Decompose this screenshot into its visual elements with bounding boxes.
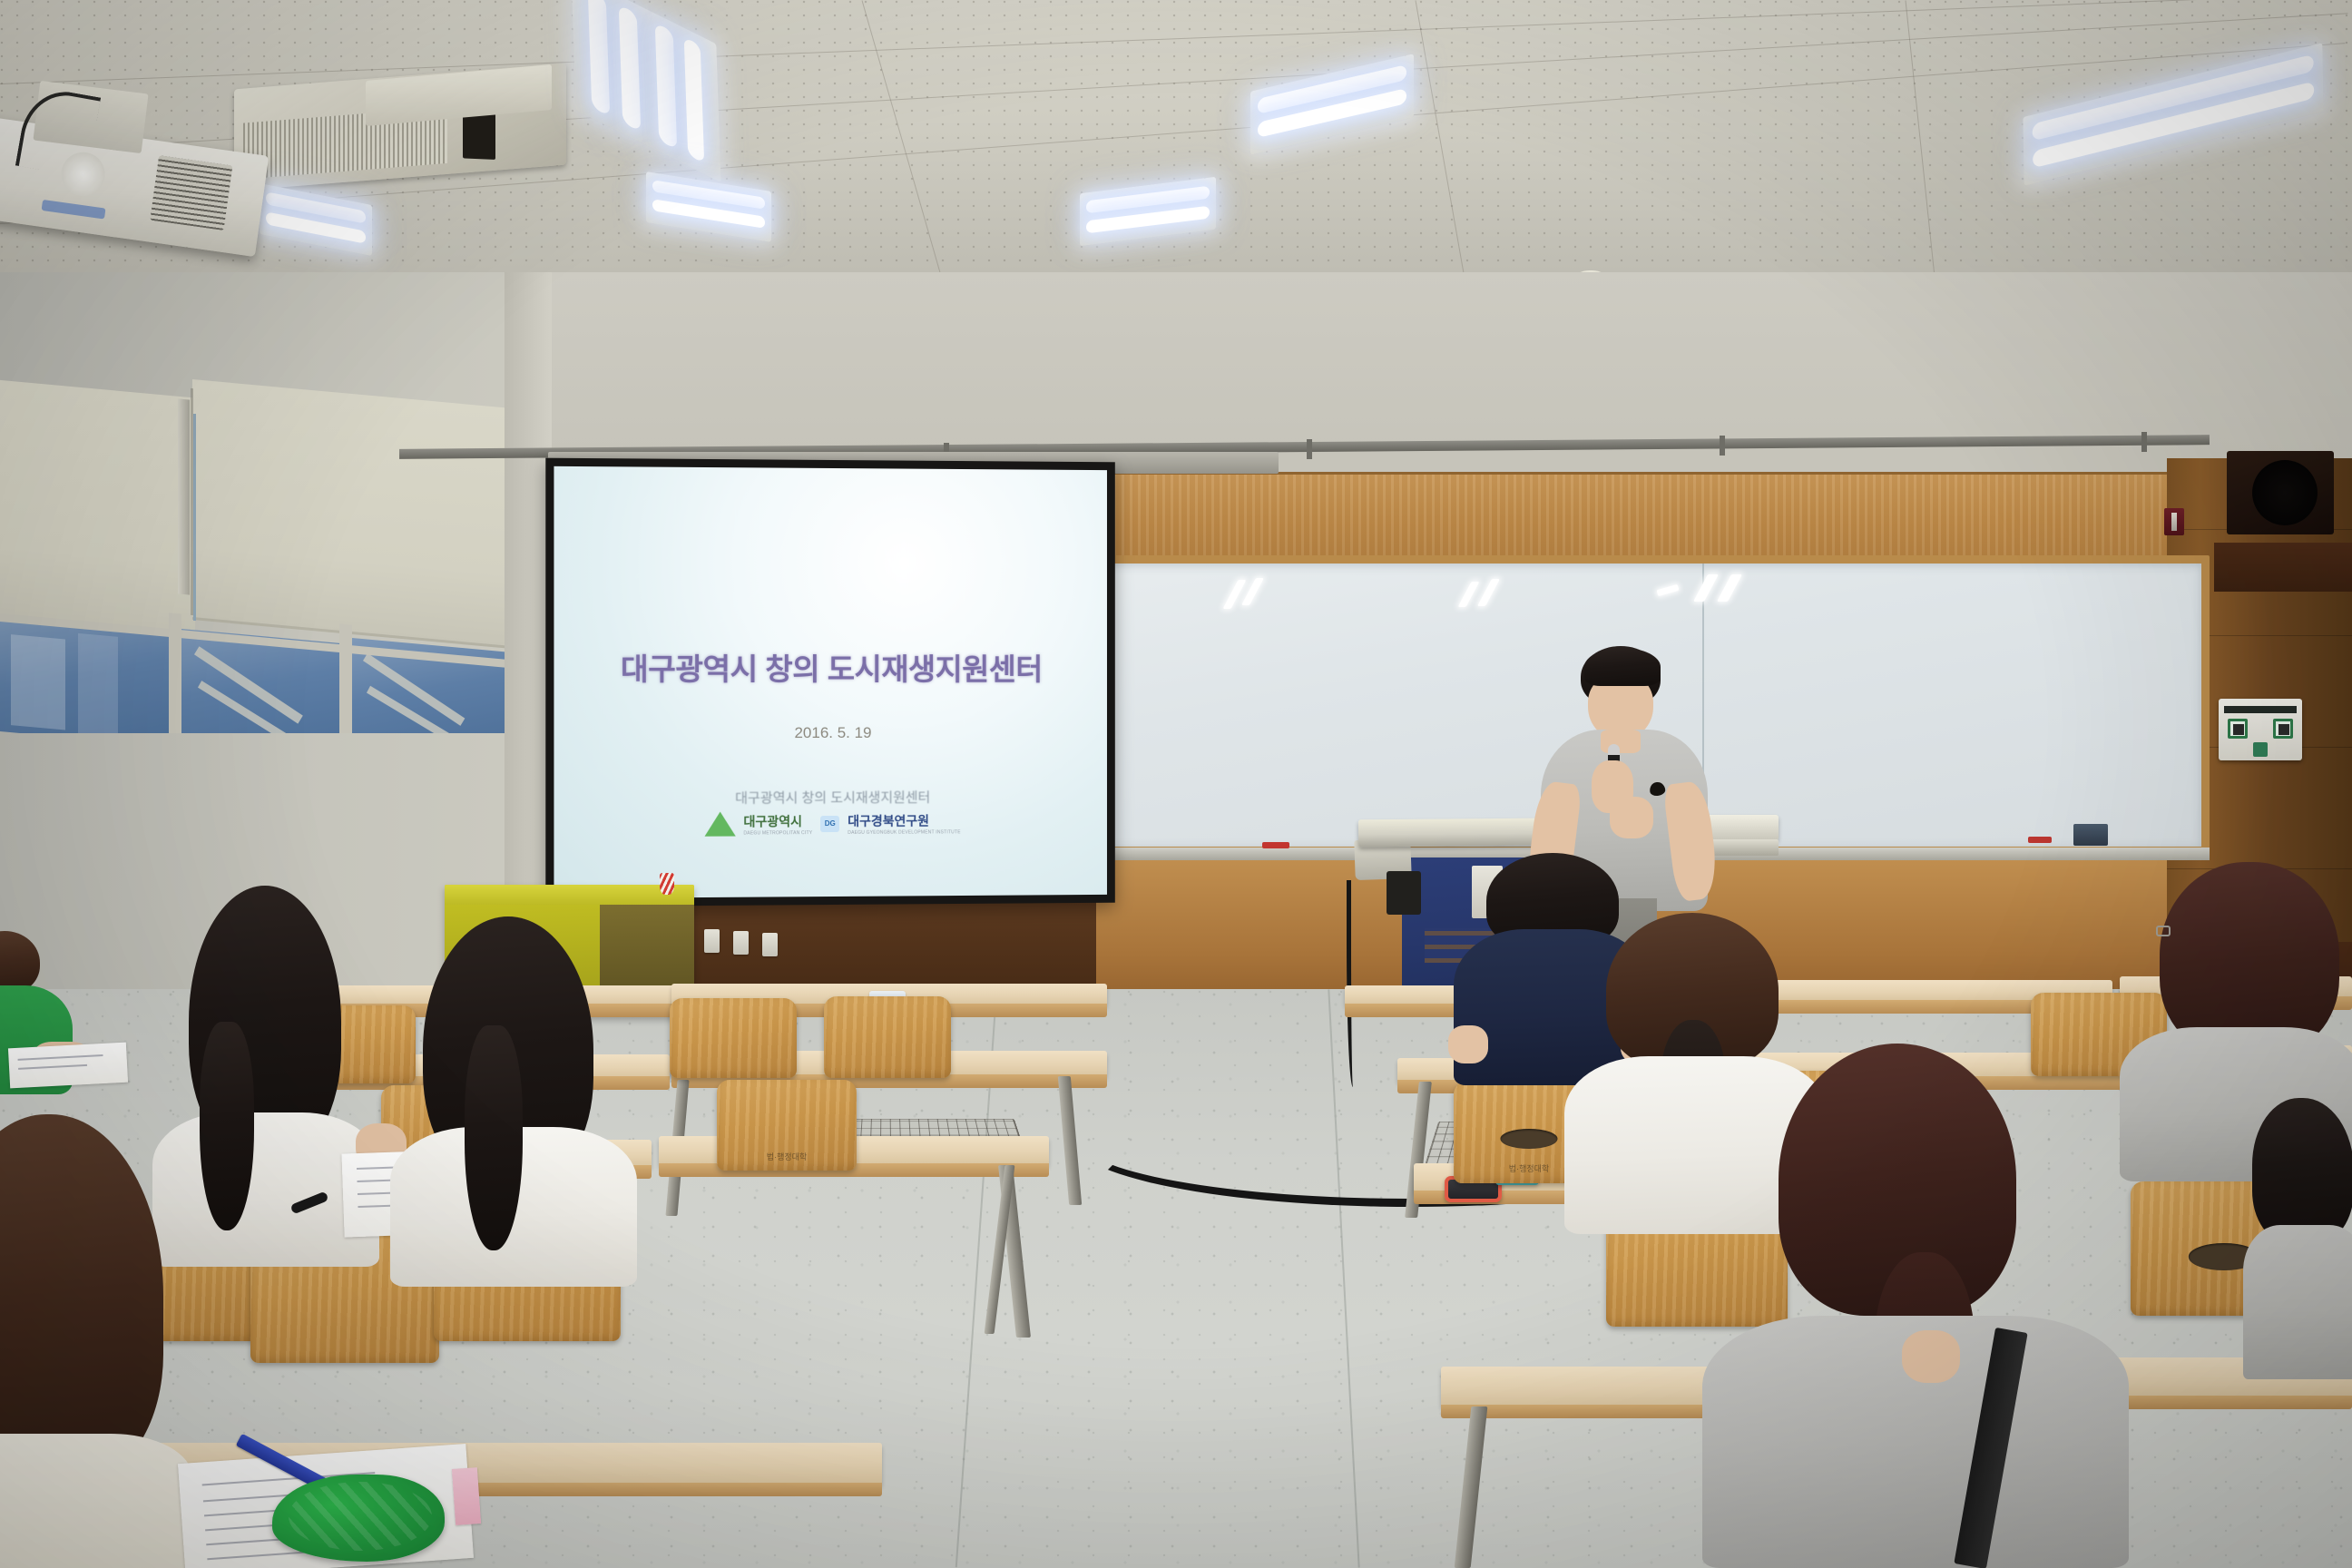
eraser[interactable] [2073, 824, 2108, 846]
wall-outlet-1[interactable] [704, 929, 720, 953]
student-hand-sweatshirt [1902, 1330, 1960, 1383]
red-striped-object [660, 873, 674, 895]
paper-far-left [8, 1043, 128, 1089]
student-far-right-rear [2252, 1098, 2352, 1370]
podium-equipment-box [1387, 871, 1421, 915]
pink-sticky-note [452, 1467, 481, 1525]
daegu-city-triangle-icon [704, 811, 735, 836]
dgi-label: 대구경북연구원 [848, 811, 929, 829]
presenter-neck [1601, 730, 1641, 753]
slide-title: 대구광역시 창의 도시재생지원센터 [554, 645, 1107, 689]
chair-label-1: 법·행정대학 [767, 1151, 807, 1162]
slide-logo-row: 대구광역시 DAEGU METROPOLITAN CITY DG 대구경북연구원… [554, 810, 1107, 838]
ceiling [0, 0, 2352, 299]
blind-chain[interactable] [193, 414, 196, 621]
projection-screen: 대구광역시 창의 도시재생지원센터 2016. 5. 19 대구광역시 창의 도… [545, 458, 1115, 907]
daegu-city-label: 대구광역시 [743, 812, 802, 830]
wall-corner [505, 272, 552, 962]
student-gray-sweatshirt [1677, 1044, 2185, 1568]
roller-blind-2[interactable] [192, 379, 508, 650]
eyeglasses-icon [2156, 926, 2171, 936]
fire-alarm-icon[interactable] [2164, 508, 2184, 535]
green-jacket [272, 1475, 445, 1562]
wall-outlet-3[interactable] [762, 933, 778, 956]
dgi-badge-icon: DG [820, 815, 839, 831]
student-top-foreground-left [0, 1434, 192, 1568]
right-wall-dark-band-1 [2214, 543, 2352, 592]
slide-date: 2016. 5. 19 [554, 724, 1107, 743]
chair-label-3: 법·행정대학 [1509, 1162, 1549, 1174]
wall-speaker [2227, 451, 2334, 534]
red-marker[interactable] [1262, 842, 1289, 848]
av-control-panel[interactable] [2219, 699, 2302, 760]
chair-back-left-2[interactable] [670, 998, 797, 1078]
daegu-city-sublabel: DAEGU METROPOLITAN CITY [743, 830, 812, 836]
wall-outlet-2[interactable] [733, 931, 749, 955]
dgi-sublabel: DAEGU GYEONGBUK DEVELOPMENT INSTITUTE [848, 829, 960, 836]
slide-organization: 대구광역시 창의 도시재생지원센터 [554, 787, 1107, 808]
chair-back-left-3[interactable] [824, 996, 951, 1078]
student-white-long-left2 [381, 916, 653, 1279]
window-wall [0, 379, 508, 733]
projected-slide: 대구광역시 창의 도시재생지원센터 2016. 5. 19 대구광역시 창의 도… [554, 466, 1107, 898]
presenter-hand-2 [1610, 797, 1653, 838]
red-marker-2[interactable] [2028, 837, 2052, 843]
presenter-hair-front [1584, 648, 1661, 686]
student-hair-foreground-left [0, 1114, 163, 1477]
panel-door-icon [2253, 742, 2268, 757]
classroom-photo: 대구광역시 창의 도시재생지원센터 2016. 5. 19 대구광역시 창의 도… [0, 0, 2352, 1568]
roller-blind-1[interactable] [0, 379, 195, 638]
window-frame-post [178, 398, 190, 594]
chair-mid-left-2[interactable]: 법·행정대학 [717, 1080, 857, 1171]
